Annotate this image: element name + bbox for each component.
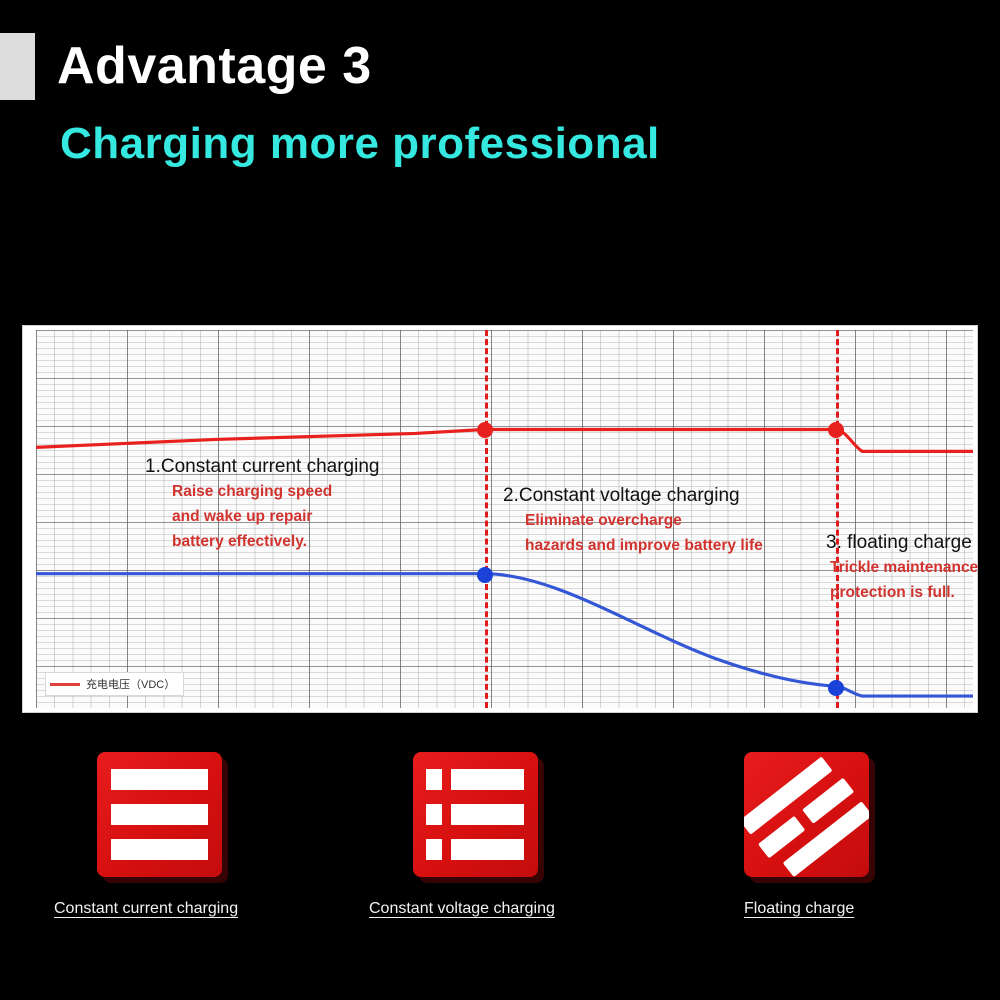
legend-label: 充电电压（VDC） bbox=[86, 676, 175, 692]
annotation-title: 1.Constant current charging bbox=[145, 455, 379, 479]
annotation-floating-charge: 3. floating charge Trickle maintenance p… bbox=[826, 531, 978, 605]
diagonal-bars-icon bbox=[744, 752, 869, 877]
annotation-line: and wake up repair bbox=[145, 504, 379, 529]
tile-label-constant-voltage[interactable]: Constant voltage charging bbox=[369, 900, 555, 918]
header-accent-block bbox=[0, 33, 35, 100]
tile-floating-charge[interactable] bbox=[744, 752, 869, 877]
annotation-constant-voltage: 2.Constant voltage charging Eliminate ov… bbox=[503, 484, 763, 558]
legend-swatch-icon bbox=[50, 683, 80, 686]
current-marker-2 bbox=[828, 680, 844, 696]
icon-bar bbox=[451, 839, 524, 860]
tile-constant-current[interactable] bbox=[97, 752, 222, 877]
icon-bar bbox=[111, 769, 208, 790]
stage-divider-2 bbox=[836, 330, 839, 708]
feature-tiles bbox=[0, 752, 1000, 952]
annotation-line: Eliminate overcharge bbox=[503, 508, 763, 533]
icon-bar bbox=[451, 769, 524, 790]
icon-bullet bbox=[426, 804, 442, 825]
tile-label-floating-charge[interactable]: Floating charge bbox=[744, 900, 854, 918]
page-subtitle: Charging more professional bbox=[60, 116, 660, 172]
chart-legend: 充电电压（VDC） bbox=[45, 672, 184, 696]
annotation-title: 2.Constant voltage charging bbox=[503, 484, 763, 508]
icon-bullet bbox=[426, 839, 442, 860]
bars-stack-icon bbox=[97, 752, 222, 877]
annotation-line: hazards and improve battery life bbox=[503, 533, 763, 558]
icon-bar bbox=[111, 839, 208, 860]
stage-divider-1 bbox=[485, 330, 488, 708]
icon-bar bbox=[451, 804, 524, 825]
annotation-line: protection is full. bbox=[826, 580, 978, 605]
icon-bullet bbox=[426, 769, 442, 790]
annotation-title: 3. floating charge bbox=[826, 531, 978, 555]
annotation-line: Trickle maintenance bbox=[826, 555, 978, 580]
tile-constant-voltage[interactable] bbox=[413, 752, 538, 877]
page-title: Advantage 3 bbox=[57, 33, 372, 99]
tile-label-constant-current[interactable]: Constant current charging bbox=[54, 900, 238, 918]
icon-bar bbox=[111, 804, 208, 825]
annotation-line: battery effectively. bbox=[145, 529, 379, 554]
voltage-marker-1 bbox=[477, 422, 493, 438]
icon-rotation-group bbox=[744, 752, 869, 877]
voltage-marker-2 bbox=[828, 422, 844, 438]
list-bullets-icon bbox=[413, 752, 538, 877]
slide-root: Advantage 3 Charging more professional 1… bbox=[0, 0, 1000, 1000]
annotation-line: Raise charging speed bbox=[145, 479, 379, 504]
annotation-constant-current: 1.Constant current charging Raise chargi… bbox=[145, 455, 379, 554]
current-marker-1 bbox=[477, 567, 493, 583]
